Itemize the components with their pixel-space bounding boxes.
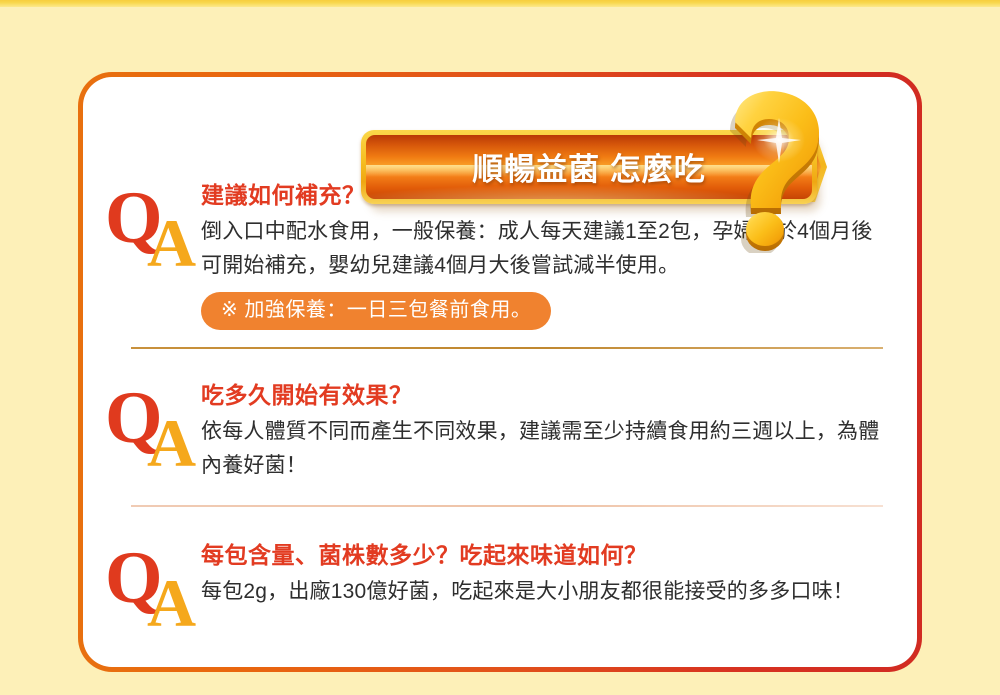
question-mark-icon — [711, 88, 841, 253]
qa-badge-icon: Q A — [105, 375, 197, 481]
letter-a-icon: A — [147, 409, 196, 477]
qa-badge-icon: Q A — [105, 175, 197, 281]
qa-badge-icon: Q A — [105, 535, 197, 641]
top-gold-strip — [0, 0, 1000, 7]
qa-question: 吃多久開始有效果？ — [201, 379, 905, 411]
qa-answer: 每包2g，出廠130億好菌，吃起來是大小朋友都很能接受的多多口味！ — [201, 575, 891, 609]
qa-answer: 依每人體質不同而產生不同效果，建議需至少持續食用約三週以上，為體內養好菌！ — [201, 415, 891, 483]
section-divider — [131, 347, 883, 349]
qa-card: 順暢益菌 怎麼吃 — [78, 72, 922, 672]
section-divider — [131, 505, 883, 507]
letter-a-icon: A — [147, 569, 196, 637]
section-header-banner: 順暢益菌 怎麼吃 — [361, 130, 831, 250]
qa-body: 吃多久開始有效果？ 依每人體質不同而產生不同效果，建議需至少持續食用約三週以上，… — [201, 375, 905, 483]
qa-card-inner: 順暢益菌 怎麼吃 — [83, 77, 917, 667]
qa-item: Q A 每包含量、菌株數多少？吃起來味道如何？ 每包2g，出廠130億好菌，吃起… — [105, 535, 905, 641]
qa-note-badge: ※ 加強保養：一日三包餐前食用。 — [201, 292, 551, 330]
letter-a-icon: A — [147, 209, 196, 277]
qa-question: 每包含量、菌株數多少？吃起來味道如何？ — [201, 539, 905, 571]
qa-item: Q A 吃多久開始有效果？ 依每人體質不同而產生不同效果，建議需至少持續食用約三… — [105, 375, 905, 483]
qa-body: 每包含量、菌株數多少？吃起來味道如何？ 每包2g，出廠130億好菌，吃起來是大小… — [201, 535, 905, 609]
